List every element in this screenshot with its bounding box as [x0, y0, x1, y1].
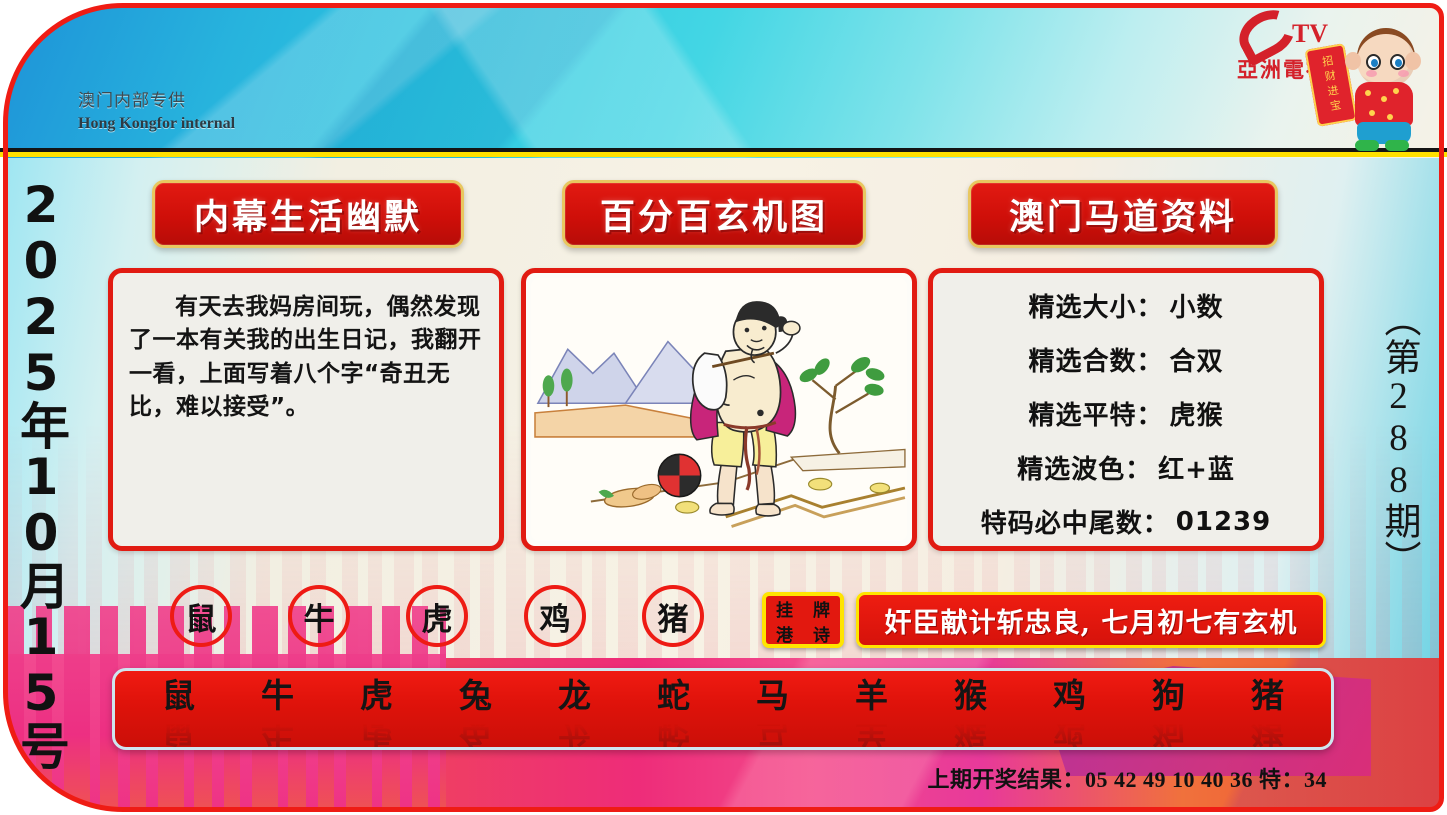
- lottery-poster: 澳门内部专供 Hong Kongfor internal 澳 门 马 会 百 分…: [0, 0, 1447, 815]
- page-title: 澳 门 马 会 百 分 百 财: [334, 34, 1086, 152]
- info-value: 01239: [1176, 507, 1271, 537]
- zodiac-reflection: 兔: [440, 714, 512, 747]
- poem-source-tag: 挂 牌 港 诗: [762, 592, 844, 648]
- info-row: 精选大小： 小数: [943, 287, 1309, 324]
- zodiac-item[interactable]: 猪猪: [1232, 671, 1304, 747]
- info-row: 精选波色： 红+蓝: [943, 449, 1309, 486]
- date-vertical: 2025年10月15号: [18, 176, 63, 768]
- zodiac-item[interactable]: 蛇蛇: [638, 671, 710, 747]
- scroll-text: 招财进宝: [1318, 54, 1344, 116]
- poem-banner: 奸臣献计斩忠良, 七月初七有玄机: [856, 592, 1326, 648]
- zodiac-item[interactable]: 牛牛: [242, 671, 314, 747]
- zodiac-label: 羊: [836, 679, 908, 712]
- mascot-cheek-right: [1398, 70, 1409, 77]
- info-card: 精选大小： 小数 精选合数： 合双 精选平特： 虎猴 精选波色： 红+蓝 特码必…: [928, 268, 1324, 551]
- last-draw-special: 34: [1304, 767, 1327, 792]
- info-label: 精选大小：: [1028, 287, 1163, 324]
- zodiac-pick-label: 牛: [304, 594, 335, 639]
- info-value: 小数: [1170, 287, 1224, 324]
- section-header-joke[interactable]: 内幕生活幽默: [152, 180, 464, 248]
- zodiac-reflection: 猪: [1232, 714, 1304, 747]
- zodiac-label: 虎: [341, 679, 413, 712]
- info-row: 特码必中尾数： 01239: [943, 503, 1309, 540]
- mascot-cheek-left: [1366, 70, 1377, 77]
- section-header-info-label: 澳门马道资料: [1009, 189, 1237, 240]
- section-header-info[interactable]: 澳门马道资料: [968, 180, 1278, 248]
- tag-char: 牌: [813, 596, 830, 621]
- title-char: 百: [901, 45, 1000, 142]
- divider-yellow-bar: [0, 152, 1447, 157]
- zodiac-label: 狗: [1133, 679, 1205, 712]
- info-label: 精选波色：: [1017, 449, 1152, 486]
- last-draw-special-label: 特：: [1259, 767, 1304, 792]
- zodiac-pick-4[interactable]: 鸡: [524, 585, 586, 647]
- tag-char: 挂: [776, 596, 793, 621]
- mascot-eye-right: [1390, 54, 1405, 70]
- section-header-picture-label: 百分百玄机图: [600, 189, 828, 240]
- mascot-ear-left: [1345, 52, 1361, 70]
- zodiac-pick-1[interactable]: 鼠: [170, 585, 232, 647]
- title-char: 财: [992, 41, 1098, 136]
- zodiac-pick-label: 鼠: [186, 594, 217, 639]
- zodiac-reflection: 猴: [935, 714, 1007, 747]
- tag-char: 诗: [813, 621, 830, 646]
- zodiac-label: 马: [737, 679, 809, 712]
- zodiac-pick-label: 虎: [422, 594, 453, 639]
- info-label: 精选平特：: [1028, 395, 1163, 432]
- last-draw-numbers: 05 42 49 10 40 36: [1085, 767, 1253, 792]
- tag-char: 港: [776, 621, 793, 646]
- zodiac-item[interactable]: 羊羊: [836, 671, 908, 747]
- zodiac-item[interactable]: 龙龙: [539, 671, 611, 747]
- mascot-shoe-right: [1385, 140, 1409, 151]
- poem-text: 奸臣献计斩忠良, 七月初七有玄机: [885, 601, 1298, 640]
- title-char: 分: [804, 41, 910, 136]
- section-header-picture[interactable]: 百分百玄机图: [562, 180, 866, 248]
- info-value: 红+蓝: [1158, 449, 1235, 486]
- zodiac-label: 兔: [440, 679, 512, 712]
- zodiac-reflection: 虎: [341, 714, 413, 747]
- zodiac-pick-5[interactable]: 猪: [642, 585, 704, 647]
- internal-label-en: Hong Kongfor internal: [78, 113, 235, 135]
- internal-label: 澳门内部专供 Hong Kongfor internal: [78, 90, 235, 135]
- monkey-mascot-icon: 招财进宝: [1309, 18, 1421, 154]
- zodiac-label: 龙: [539, 679, 611, 712]
- last-draw-label: 上期开奖结果：: [927, 767, 1085, 792]
- zodiac-item[interactable]: 鼠鼠: [143, 671, 215, 747]
- zodiac-pick-3[interactable]: 虎: [406, 585, 468, 647]
- zodiac-label: 猪: [1232, 679, 1304, 712]
- joke-card: 有天去我妈房间玩，偶然发现了一本有关我的出生日记，我翻开一看，上面写着八个字“奇…: [108, 268, 504, 551]
- zodiac-pick-label: 猪: [658, 594, 689, 639]
- zodiac-label: 鸡: [1034, 679, 1106, 712]
- zodiac-reflection: 鼠: [143, 714, 215, 747]
- info-value: 合双: [1170, 341, 1224, 378]
- last-draw-result: 上期开奖结果：05 42 49 10 40 36 特：34: [927, 762, 1327, 794]
- zodiac-reflection: 鸡: [1034, 714, 1106, 747]
- zodiac-label: 牛: [242, 679, 314, 712]
- title-char: 会: [616, 41, 722, 136]
- info-row: 精选合数： 合双: [943, 341, 1309, 378]
- zodiac-reflection: 羊: [836, 714, 908, 747]
- zodiac-item[interactable]: 猴猴: [935, 671, 1007, 747]
- section-header-joke-label: 内幕生活幽默: [194, 189, 422, 240]
- zodiac-pick-2[interactable]: 牛: [288, 585, 350, 647]
- zodiac-reflection: 蛇: [638, 714, 710, 747]
- mascot-eye-left: [1366, 54, 1381, 70]
- internal-label-cn: 澳门内部专供: [78, 90, 235, 113]
- zodiac-reflection: 龙: [539, 714, 611, 747]
- zodiac-label: 蛇: [638, 679, 710, 712]
- zodiac-strip: 鼠鼠 牛牛 虎虎 兔兔 龙龙 蛇蛇 马马 羊羊 猴猴 鸡鸡 狗狗 猪猪: [112, 668, 1334, 750]
- info-row: 精选平特： 虎猴: [943, 395, 1309, 432]
- info-label: 特码必中尾数：: [981, 503, 1170, 540]
- zodiac-reflection: 狗: [1133, 714, 1205, 747]
- zodiac-reflection: 牛: [242, 714, 314, 747]
- info-value: 虎猴: [1170, 395, 1224, 432]
- zodiac-item[interactable]: 虎虎: [341, 671, 413, 747]
- title-char: 百: [713, 45, 812, 142]
- title-char: 马: [525, 45, 624, 142]
- zodiac-label: 猴: [935, 679, 1007, 712]
- info-label: 精选合数：: [1028, 341, 1163, 378]
- zodiac-item[interactable]: 鸡鸡: [1034, 671, 1106, 747]
- info-list: 精选大小： 小数 精选合数： 合双 精选平特： 虎猴 精选波色： 红+蓝 特码必…: [933, 273, 1319, 540]
- zodiac-item[interactable]: 马马: [737, 671, 809, 747]
- mascot-shoe-left: [1355, 140, 1379, 151]
- picture-card: [521, 268, 917, 551]
- zodiac-label: 鼠: [143, 679, 215, 712]
- zodiac-pick-label: 鸡: [540, 594, 571, 639]
- zodiac-reflection: 马: [737, 714, 809, 747]
- title-char: 门: [428, 41, 534, 136]
- issue-number-vertical: （第288期）: [1380, 300, 1417, 578]
- title-char: 澳: [337, 45, 436, 142]
- zodiac-item[interactable]: 兔兔: [440, 671, 512, 747]
- zodiac-item[interactable]: 狗狗: [1133, 671, 1205, 747]
- mascot-ear-right: [1405, 52, 1421, 70]
- joke-text: 有天去我妈房间玩，偶然发现了一本有关我的出生日记，我翻开一看，上面写着八个字“奇…: [113, 273, 499, 424]
- mascot-body: [1355, 82, 1413, 126]
- cartoon-illustration: [531, 278, 907, 541]
